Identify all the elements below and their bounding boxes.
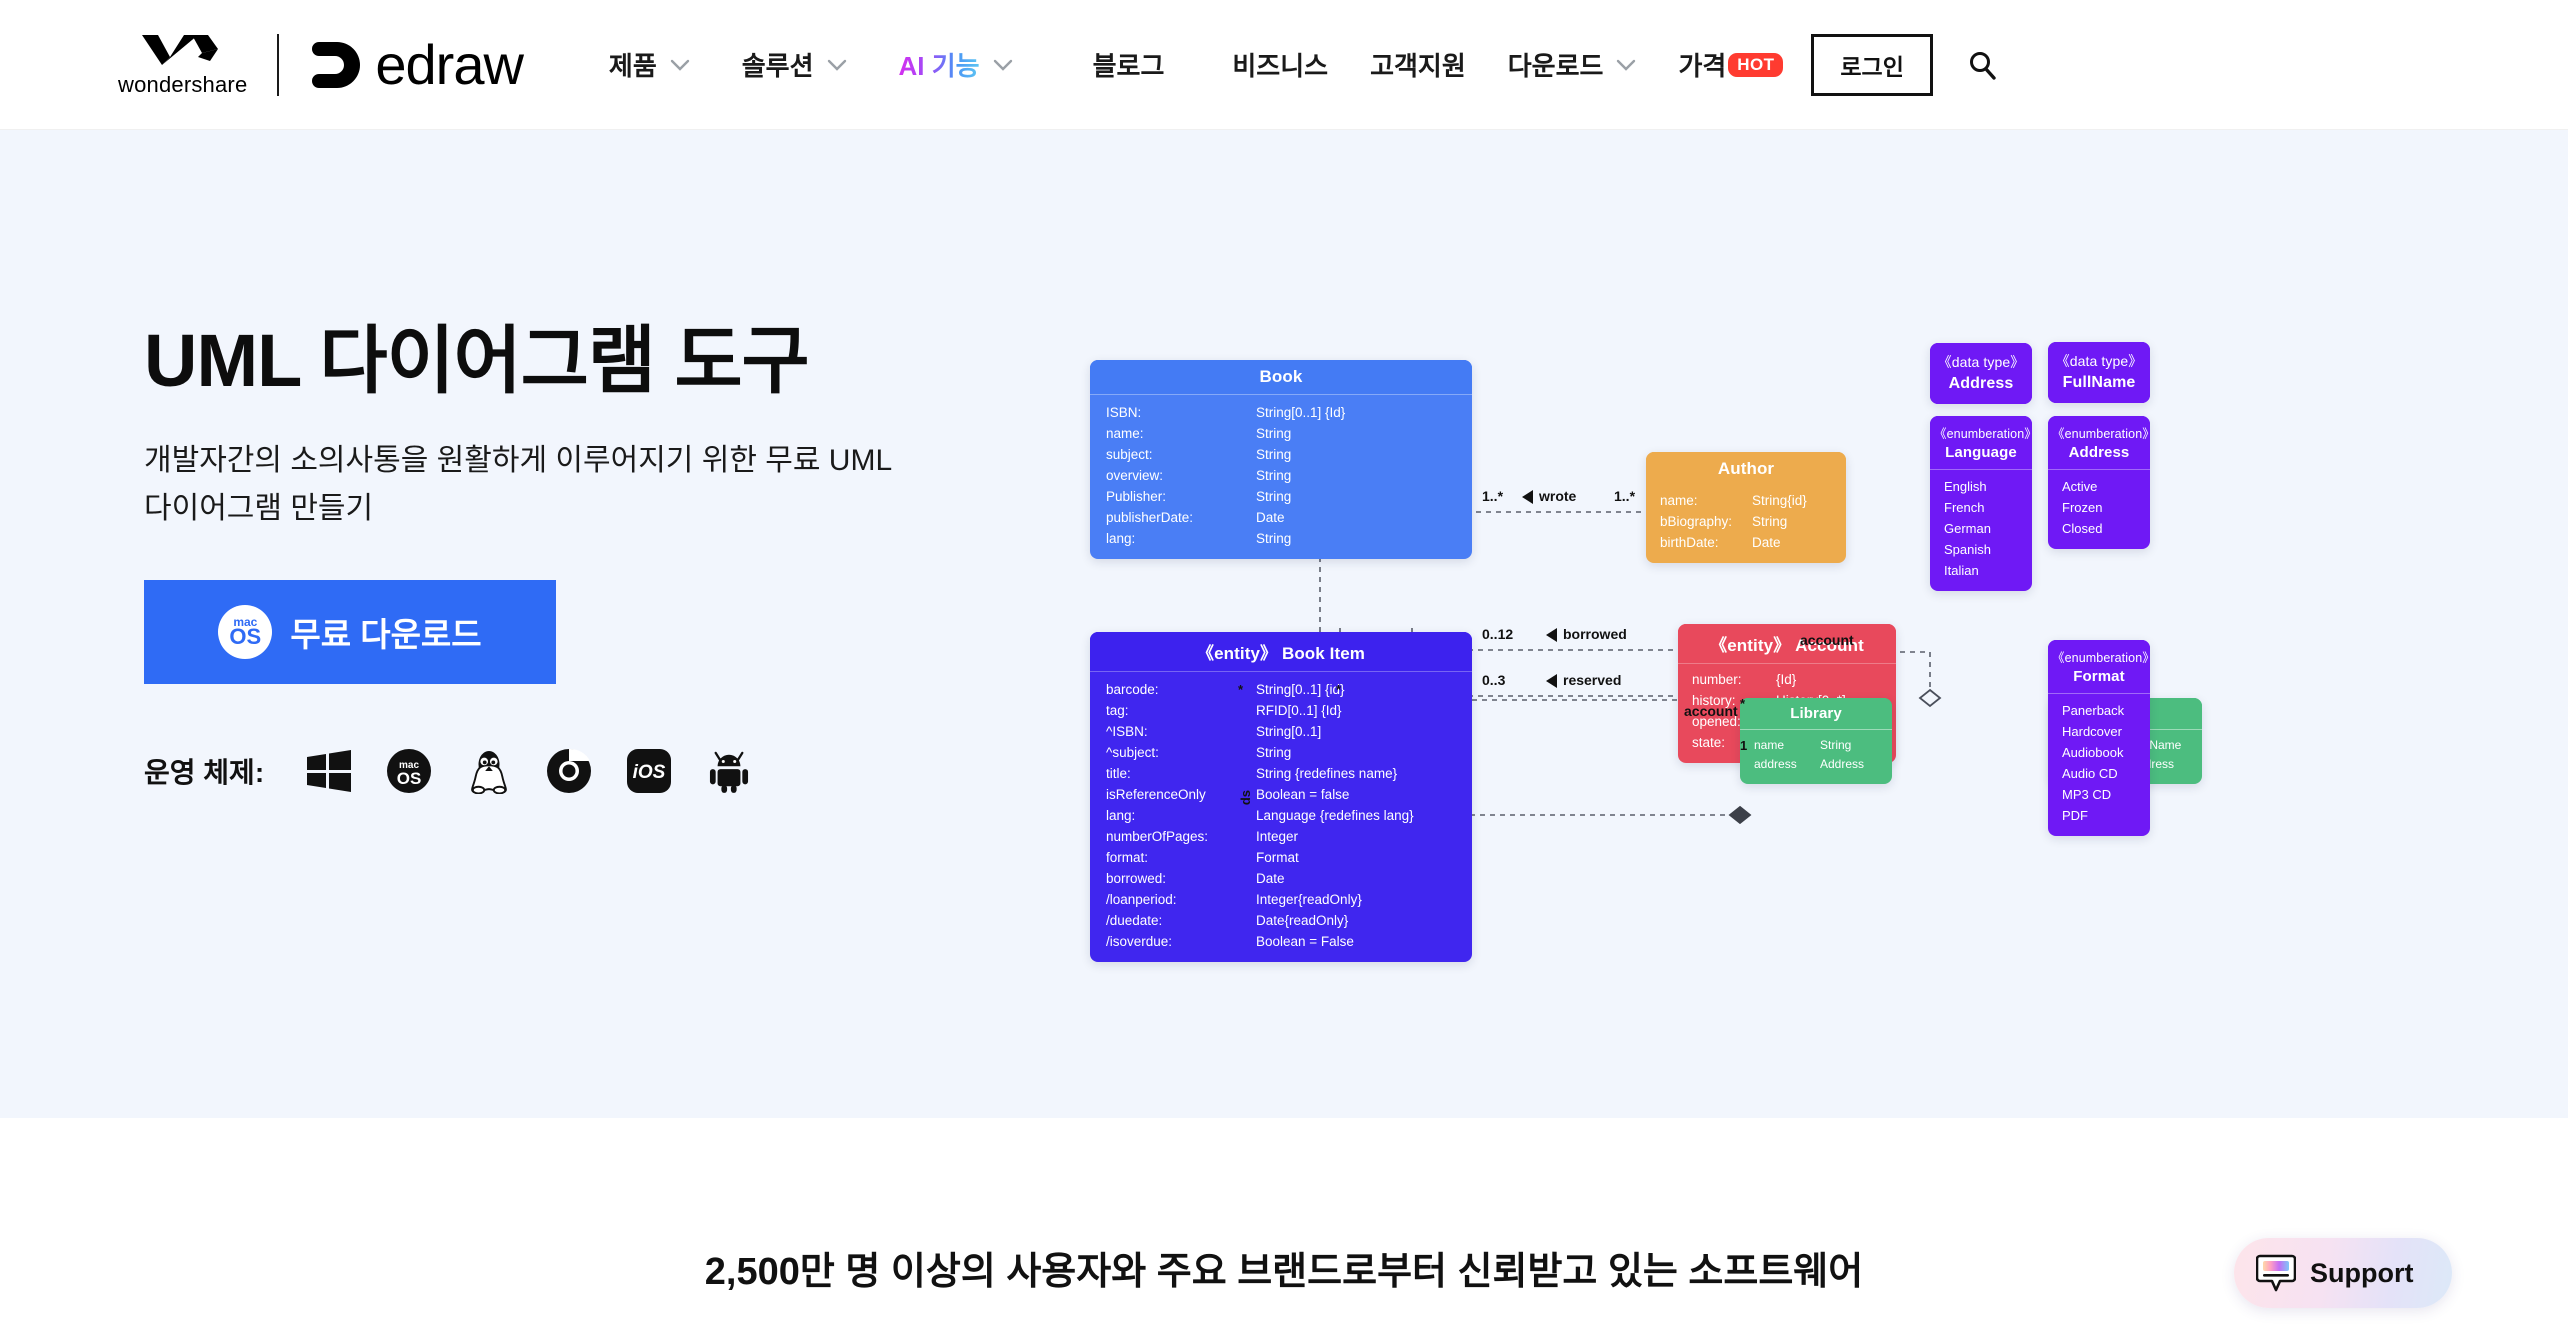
uml-edge-label-account-left: account [1684, 703, 1738, 719]
attr-key: name [1754, 736, 1820, 755]
login-button[interactable]: 로그인 [1811, 34, 1932, 96]
trust-headline: 2,500만 명 이상의 사용자와 주요 브랜드로부터 신뢰받고 있는 소프트웨… [0, 1240, 2568, 1295]
uml-class-library[interactable]: Library nameString addressAddress [1740, 698, 1892, 784]
uml-edge-label-wrote-right-mult: 1..* [1614, 488, 1635, 504]
edraw-logo[interactable]: edraw [309, 32, 523, 97]
uml-edge-label-wrote-left-mult: 1..* [1482, 488, 1503, 504]
aggregation-diamond-icon [1920, 690, 1940, 706]
attr-value: Date [1256, 868, 1285, 889]
nav-item-solutions[interactable]: 솔루션 [742, 46, 847, 83]
attr-key: /loanperiod: [1106, 889, 1256, 910]
os-row-label: 운영 체제: [144, 751, 264, 791]
attr-key: format: [1106, 847, 1256, 868]
attr-key: overview: [1106, 465, 1256, 486]
uml-attribute-row: subject:String [1106, 444, 1456, 465]
uml-enum-name: Language [1934, 444, 2028, 461]
main-navigation: 제품 솔루션 AI 기능 블로그 비즈니스 고객지원 다운로드 가격 HOT 로… [609, 34, 1997, 96]
chevron-down-icon [827, 59, 847, 71]
uml-enum-value: Spanish [1944, 539, 2018, 560]
uml-attribute-row: /duedate:Date{readOnly} [1106, 910, 1456, 931]
attr-key: birthDate: [1660, 532, 1752, 553]
attr-value: Language {redefines lang} [1256, 805, 1414, 826]
uml-datatype-address[interactable]: 《data type》 Address [1930, 343, 2032, 404]
hero-copy-block: UML 다이어그램 도구 개발자간의 소의사통을 원활하게 이루어지기 위한 무… [144, 320, 904, 794]
edraw-wordmark: edraw [375, 32, 523, 97]
composition-diamond-icon [1730, 807, 1750, 823]
uml-datatype-name: Address [1934, 375, 2028, 393]
linux-icon[interactable] [466, 748, 512, 794]
uml-enum-value: French [1944, 497, 2018, 518]
attr-value: String [1256, 423, 1291, 444]
support-label: Support [2310, 1258, 2413, 1289]
uml-enum-value: Audio CD [2062, 763, 2136, 784]
linux-penguin-glyph-icon [468, 748, 510, 794]
uml-class-book-title: Book [1090, 360, 1472, 395]
uml-attribute-row: birthDate:Date [1660, 532, 1832, 553]
attr-value: Integer [1256, 826, 1298, 847]
uml-enum-value: Frozen [2062, 497, 2136, 518]
uml-class-book-item[interactable]: 《entity》 Book Item barcode:String[0..1] … [1090, 632, 1472, 962]
uml-enum-name: Format [2052, 668, 2146, 685]
attr-key: tag: [1106, 700, 1256, 721]
chevron-down-icon [993, 59, 1013, 71]
uml-enum-value: Italian [1944, 560, 2018, 581]
nav-item-download[interactable]: 다운로드 [1508, 46, 1637, 83]
uml-enum-address-values: Active Frozen Closed [2048, 470, 2150, 549]
windows-glyph-icon [307, 750, 351, 792]
ios-glyph-icon: iOS [626, 748, 672, 794]
arrow-left-icon [1522, 490, 1533, 504]
uml-datatype-fullname[interactable]: 《data type》 FullName [2048, 342, 2150, 403]
uml-class-book[interactable]: Book ISBN:String[0..1] {Id} name:String … [1090, 360, 1472, 559]
trust-band [0, 1118, 2568, 1328]
uml-stereotype: 《enumberation》 [2052, 647, 2146, 666]
uml-attribute-row: tag:RFID[0..1] {Id} [1106, 700, 1456, 721]
uml-edge-label-item-mult-b: * [1336, 682, 1341, 697]
attr-key: publisherDate: [1106, 507, 1256, 528]
nav-item-blog[interactable]: 블로그 [1093, 46, 1165, 83]
nav-item-business[interactable]: 비즈니스 [1232, 46, 1328, 83]
uml-attribute-row: lang:String [1106, 528, 1456, 549]
uml-enum-value: PDF [2062, 805, 2136, 826]
arrow-left-icon [1546, 674, 1557, 688]
attr-key: name: [1106, 423, 1256, 444]
uml-class-book-item-attributes: barcode:String[0..1] {id} tag:RFID[0..1]… [1090, 672, 1472, 962]
uml-attribute-row: Publisher:String [1106, 486, 1456, 507]
uml-enum-value: Audiobook [2062, 742, 2136, 763]
uml-enum-value: English [1944, 476, 2018, 497]
attr-value: String[0..1] [1256, 721, 1321, 742]
windows-icon[interactable] [306, 748, 352, 794]
uml-attribute-row: format:Format [1106, 847, 1456, 868]
uml-class-account-title: 《entity》 Account [1678, 624, 1896, 664]
uml-attribute-row: isReferenceOnlyBoolean = false [1106, 784, 1456, 805]
attr-key: Publisher: [1106, 486, 1256, 507]
attr-key: bBiography: [1660, 511, 1752, 532]
attr-value: Address [1820, 755, 1864, 774]
uml-attribute-row: ISBN:String[0..1] {Id} [1106, 402, 1456, 423]
free-download-label: 무료 다운로드 [290, 608, 481, 656]
uml-attribute-row: bBiography:String [1660, 511, 1832, 532]
attr-value: Boolean = false [1256, 784, 1349, 805]
wondershare-wordmark: wondershare [118, 72, 247, 98]
attr-value: String[0..1] {Id} [1256, 402, 1345, 423]
ios-icon[interactable]: iOS [626, 748, 672, 794]
uml-enum-value: Hardcover [2062, 721, 2136, 742]
uml-attribute-row: addressAddress [1754, 755, 1878, 774]
uml-enum-value: Panerback [2062, 700, 2136, 721]
nav-item-support[interactable]: 고객지원 [1370, 46, 1466, 83]
attr-value: Date{readOnly} [1256, 910, 1348, 931]
uml-stereotype: 《entity》 [1197, 644, 1277, 663]
nav-label-support: 고객지원 [1370, 46, 1466, 83]
uml-enum-value: MP3 CD [2062, 784, 2136, 805]
uml-attribute-row: name:String [1106, 423, 1456, 444]
attr-value: String{id} [1752, 490, 1807, 511]
chat-bubble-icon [2256, 1253, 2296, 1293]
attr-value: Integer{readOnly} [1256, 889, 1362, 910]
attr-key: ^subject: [1106, 742, 1256, 763]
uml-stereotype: 《data type》 [2052, 351, 2146, 371]
attr-key: number: [1692, 669, 1776, 690]
wondershare-mark-icon [140, 31, 226, 67]
attr-value: String [1256, 742, 1291, 763]
nav-item-products[interactable]: 제품 [609, 46, 690, 83]
uml-attribute-row: title:String {redefines name} [1106, 763, 1456, 784]
hot-badge: HOT [1728, 53, 1783, 77]
uml-stereotype: 《data type》 [1934, 352, 2028, 372]
uml-attribute-row: lang:Language {redefines lang} [1106, 805, 1456, 826]
uml-attribute-row: ^subject:String [1106, 742, 1456, 763]
uml-class-book-item-title: 《entity》 Book Item [1090, 632, 1472, 672]
nav-label-solutions: 솔루션 [742, 46, 814, 83]
uml-attribute-row: /loanperiod:Integer{readOnly} [1106, 889, 1456, 910]
uml-edge-label-borrowed-mult: 0..12 [1482, 626, 1513, 642]
uml-edge-label-library-mult: 1 [1740, 738, 1747, 753]
uml-attribute-row: publisherDate:Date [1106, 507, 1456, 528]
site-header: wondershare edraw 제품 솔루션 AI 기능 블로그 비즈니스 [0, 0, 2568, 130]
chrome-icon[interactable] [546, 748, 592, 794]
edraw-mark-icon [309, 36, 371, 94]
nav-label-ai-features: AI 기능 [899, 46, 980, 83]
attr-value: String [1752, 511, 1787, 532]
hero-section: UML 다이어그램 도구 개발자간의 소의사통을 원활하게 이루어지기 위한 무… [0, 130, 2568, 1118]
uml-class-author[interactable]: Author name:String{id} bBiography:String… [1646, 452, 1846, 563]
uml-stereotype: 《enumberation》 [2052, 423, 2146, 442]
uml-class-library-title: Library [1740, 698, 1892, 730]
uml-enum-format-values: Panerback Hardcover Audiobook Audio CD M… [2048, 694, 2150, 836]
uml-edge-label-reserved-mult: 0..3 [1482, 672, 1505, 688]
uml-edge-label-borrowed: borrowed [1546, 626, 1627, 642]
attr-key: lang: [1106, 528, 1256, 549]
attr-key: address [1754, 755, 1820, 774]
attr-value: String [1256, 528, 1291, 549]
attr-key: barcode: [1106, 679, 1256, 700]
uml-class-name: Book Item [1282, 644, 1365, 663]
search-icon[interactable] [1967, 50, 1997, 80]
attr-value: Date [1256, 507, 1285, 528]
attr-value: {Id} [1776, 669, 1796, 690]
uml-datatype-name: FullName [2052, 374, 2146, 392]
uml-enum-language-values: English French German Spanish Italian [1930, 470, 2032, 591]
uml-edge-label-account-right: account [1800, 632, 1854, 648]
uml-class-library-attributes: nameString addressAddress [1740, 730, 1892, 784]
nav-label-products: 제품 [609, 46, 657, 83]
attr-value: Date [1752, 532, 1781, 553]
android-glyph-icon [709, 749, 749, 793]
attr-value: String [1256, 465, 1291, 486]
attr-value: Format [1256, 847, 1299, 868]
nav-label-pricing: 가격 [1678, 46, 1726, 83]
uml-edge-label-item-mult-a: * [1238, 682, 1243, 697]
uml-enum-format-header: 《enumberation》 Format [2048, 640, 2150, 694]
attr-key: subject: [1106, 444, 1256, 465]
uml-edge-label-ds: ds [1238, 790, 1253, 805]
svg-text:OS: OS [397, 769, 422, 788]
attr-value: String [1820, 736, 1851, 755]
attr-key: /duedate: [1106, 910, 1256, 931]
attr-key: isReferenceOnly [1106, 784, 1256, 805]
hero-subtitle: 개발자간의 소의사통을 원활하게 이루어지기 위한 무료 UML 다이어그램 만… [144, 437, 904, 532]
nav-label-business: 비즈니스 [1232, 46, 1328, 83]
attr-value: String [1256, 486, 1291, 507]
chrome-glyph-icon [546, 748, 592, 794]
attr-key: ISBN: [1106, 402, 1256, 423]
macos-glyph-icon: mac OS [386, 748, 432, 794]
attr-value: String[0..1] {id} [1256, 679, 1345, 700]
chevron-down-icon [1616, 59, 1636, 71]
uml-class-author-attributes: name:String{id} bBiography:String birthD… [1646, 486, 1846, 563]
uml-class-author-title: Author [1646, 452, 1846, 486]
uml-datatype-address-header: 《data type》 Address [1930, 343, 2032, 404]
search-glyph-icon [1967, 50, 1997, 80]
uml-enum-address-header: 《enumberation》 Address [2048, 416, 2150, 470]
uml-datatype-fullname-header: 《data type》 FullName [2048, 342, 2150, 403]
nav-label-download: 다운로드 [1508, 46, 1604, 83]
attr-key: numberOfPages: [1106, 826, 1256, 847]
uml-stereotype: 《entity》 [1710, 636, 1790, 655]
uml-stereotype: 《enumberation》 [1934, 423, 2028, 442]
attr-key: /isoverdue: [1106, 931, 1256, 952]
uml-enum-value: Closed [2062, 518, 2136, 539]
attr-key: lang: [1106, 805, 1256, 826]
nav-item-pricing[interactable]: 가격 HOT [1678, 46, 1783, 83]
uml-attribute-row: barcode:String[0..1] {id} [1106, 679, 1456, 700]
attr-value: RFID[0..1] {Id} [1256, 700, 1342, 721]
uml-attribute-row: borrowed:Date [1106, 868, 1456, 889]
svg-text:iOS: iOS [633, 762, 666, 783]
uml-enum-value: Active [2062, 476, 2136, 497]
chevron-down-icon [670, 59, 690, 71]
uml-enum-name: Address [2052, 444, 2146, 461]
android-icon[interactable] [706, 748, 752, 794]
uml-attribute-row: nameString [1754, 736, 1878, 755]
uml-enum-language-header: 《enumberation》 Language [1930, 416, 2032, 470]
uml-enum-address[interactable]: 《enumberation》 Address Active Frozen Clo… [2048, 416, 2150, 549]
nav-item-ai-features[interactable]: AI 기능 [899, 46, 1013, 83]
attr-value: String [1256, 444, 1291, 465]
uml-attribute-row: ^ISBN:String[0..1] [1106, 721, 1456, 742]
uml-enum-format[interactable]: 《enumberation》 Format Panerback Hardcove… [2048, 640, 2150, 836]
uml-class-book-attributes: ISBN:String[0..1] {Id} name:String subje… [1090, 395, 1472, 559]
uml-diagram: Book ISBN:String[0..1] {Id} name:String … [1090, 360, 2410, 1120]
attr-key: title: [1106, 763, 1256, 784]
attr-key: name: [1660, 490, 1752, 511]
macos-icon: mac OS [218, 605, 272, 659]
nav-label-blog: 블로그 [1093, 46, 1165, 83]
macos-icon-bottom-label: OS [229, 626, 261, 648]
free-download-button[interactable]: mac OS 무료 다운로드 [144, 580, 556, 684]
wondershare-logo[interactable]: wondershare [118, 31, 247, 98]
attr-value: Boolean = False [1256, 931, 1354, 952]
uml-attribute-row: /isoverdue:Boolean = False [1106, 931, 1456, 952]
uml-attribute-row: number:{Id} [1692, 669, 1882, 690]
supported-os-row: 운영 체제: mac OS [144, 748, 904, 794]
support-widget[interactable]: Support [2234, 1238, 2452, 1308]
page-title: UML 다이어그램 도구 [144, 320, 904, 401]
logo-divider [277, 34, 279, 96]
uml-edge-label-wrote: wrote [1522, 488, 1576, 504]
uml-edge-label-account-mult: * [1740, 696, 1745, 711]
attr-key: ^ISBN: [1106, 721, 1256, 742]
brand-logos: wondershare edraw [118, 31, 523, 98]
attr-value: String {redefines name} [1256, 763, 1397, 784]
uml-edge-label-reserved: reserved [1546, 672, 1621, 688]
uml-attribute-row: overview:String [1106, 465, 1456, 486]
macos-icon[interactable]: mac OS [386, 748, 432, 794]
arrow-left-icon [1546, 628, 1557, 642]
uml-attribute-row: numberOfPages:Integer [1106, 826, 1456, 847]
uml-enum-value: German [1944, 518, 2018, 539]
uml-enum-language[interactable]: 《enumberation》 Language English French G… [1930, 416, 2032, 591]
uml-attribute-row: name:String{id} [1660, 490, 1832, 511]
attr-key: borrowed: [1106, 868, 1256, 889]
